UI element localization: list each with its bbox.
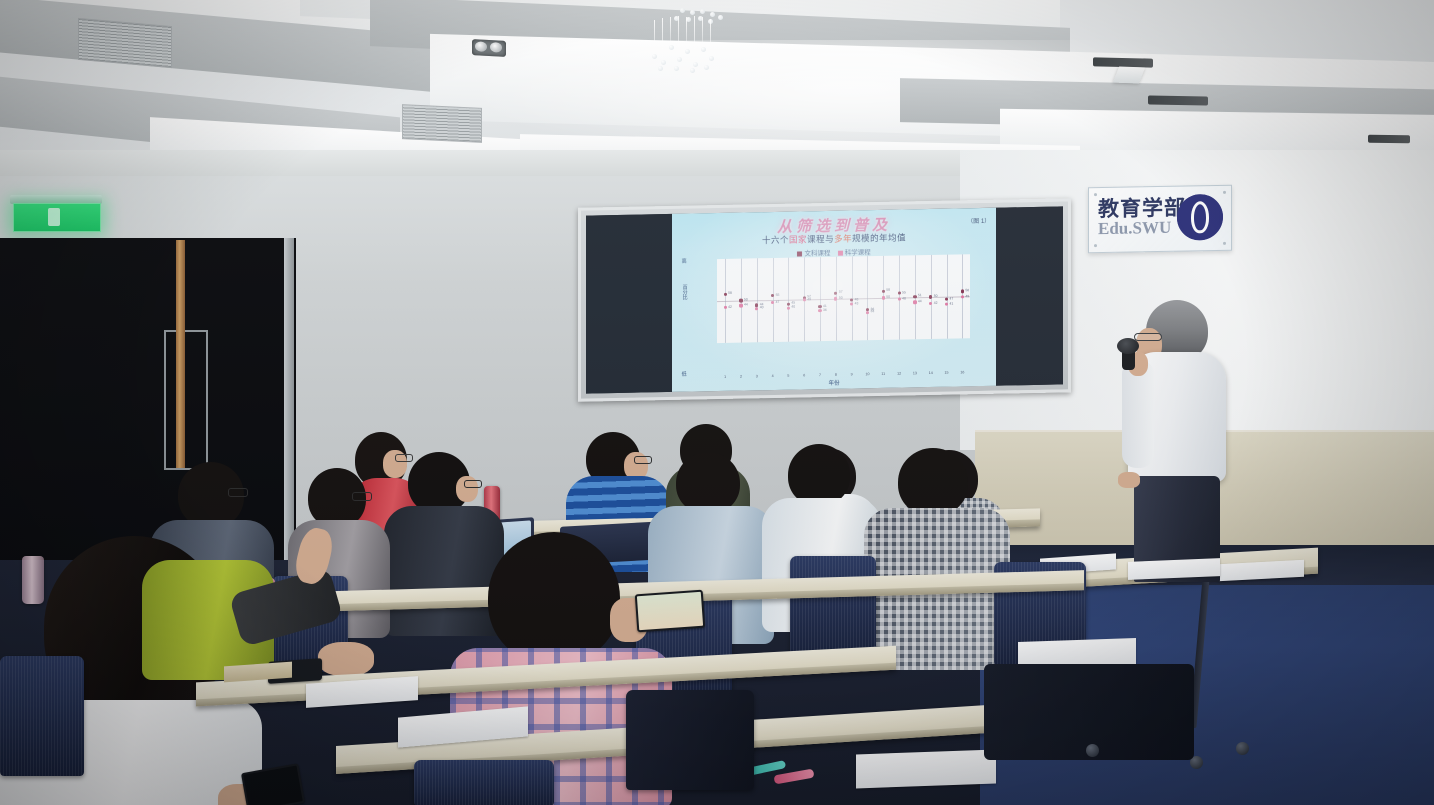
chart-plot-area: 5850445545524157483658555150475642444047…: [717, 254, 970, 343]
hvac-vent-icon: [78, 18, 172, 68]
chart-data-point: [739, 304, 742, 307]
chart-data-point: [945, 303, 948, 306]
paper-sheet: [856, 750, 996, 789]
chart-data-point: [850, 303, 853, 306]
board-panel-right: [996, 206, 1063, 385]
chart-data-point: [724, 293, 727, 296]
chart-x-tick: 1: [724, 375, 726, 379]
chart-x-tick: 16: [960, 370, 964, 374]
chart-point-label: 58: [886, 288, 890, 292]
chart-point-label: 58: [728, 291, 732, 295]
chart-data-point: [755, 307, 758, 310]
slide-sub-mid: 课程与: [807, 234, 834, 245]
legend-swatch-0: [797, 251, 802, 256]
chart-point-label: 50: [839, 296, 843, 300]
chart-point-label: 44: [918, 299, 922, 303]
chart-point-label: 42: [934, 301, 938, 305]
chart-point-label: 43: [855, 301, 859, 305]
chart-x-tick: 12: [897, 372, 901, 376]
door-jamb: [164, 330, 208, 470]
chart-point-label: 48: [902, 296, 906, 300]
slide-sub-lead: 十六个: [762, 235, 789, 246]
chart-data-point: [771, 301, 774, 304]
board-panel-left: [586, 214, 672, 394]
presenter-person: [1112, 300, 1232, 590]
running-man-icon: [48, 208, 60, 226]
chart-data-point: [898, 298, 901, 301]
axis-corner-bottom: 低: [682, 371, 687, 378]
chart-data-point: [945, 298, 948, 301]
chart-x-tick: 14: [929, 371, 933, 375]
chart-x-tick: 15: [945, 371, 949, 375]
department-wall-sign: 教育学部 Edu.SWU: [1088, 185, 1232, 254]
chart-point-label: 50: [934, 294, 938, 298]
chart-point-label: 57: [839, 290, 843, 294]
chart-data-point: [898, 292, 901, 295]
chart-point-label: 51: [918, 293, 922, 297]
chart-x-tick: 8: [835, 373, 837, 377]
chart-point-label: 50: [744, 297, 748, 301]
eyeglasses-icon: [228, 488, 248, 497]
hvac-vent-icon: [402, 104, 482, 143]
door-frame: [284, 238, 294, 560]
chart-point-label: 42: [728, 304, 732, 308]
projected-slide: 从筛选到普及 （图 1） 十六个国家课程与多年规模的年均值 文科课程 科学课程 …: [672, 208, 996, 392]
chart-point-label: 56: [965, 288, 969, 292]
eyeglasses-icon: [464, 480, 482, 488]
ceiling-slot-light-icon: [1148, 95, 1208, 105]
sign-english-text: Edu.SWU: [1098, 218, 1171, 239]
chart-gridline: [820, 257, 821, 341]
desk-caster: [1236, 742, 1249, 755]
chair[interactable]: [414, 760, 554, 805]
chart-point-label: 40: [760, 306, 764, 310]
ceiling-spotlight-icon: [472, 39, 506, 57]
chart-data-point: [834, 291, 837, 294]
chart-data-point: [866, 311, 869, 314]
chart-point-label: 55: [776, 293, 780, 297]
slide-sub-hl1: 国家: [789, 234, 807, 244]
emergency-exit-sign: [13, 203, 101, 232]
chart-point-label: 50: [886, 295, 890, 299]
chart-x-tick: 5: [787, 374, 789, 378]
chart-point-label: 55: [902, 290, 906, 294]
chart-x-tick: 6: [803, 373, 805, 377]
chart-data-point: [882, 296, 885, 299]
chair[interactable]: [0, 656, 84, 776]
paper-sheet: [1128, 558, 1220, 580]
desk-caster: [1086, 744, 1099, 757]
slide-sub-tail: 规模的年均值: [852, 232, 906, 243]
chart-gridline: [773, 258, 774, 342]
chart-point-label: 47: [950, 296, 954, 300]
chart-data-point: [818, 305, 821, 308]
chart-data-point: [961, 290, 964, 293]
chart-data-point: [787, 306, 790, 309]
doorway-dark[interactable]: [0, 238, 296, 560]
chart-x-axis-label: 年份: [672, 376, 996, 390]
chart-data-point: [929, 302, 932, 305]
chart-x-tick: 7: [819, 373, 821, 377]
chart-data-point: [850, 299, 853, 302]
chart-x-tick: 9: [851, 372, 853, 376]
chart-data-point: [724, 306, 727, 309]
eyeglasses-icon: [1134, 333, 1162, 341]
whiteboard-screen-assembly: 从筛选到普及 （图 1） 十六个国家课程与多年规模的年均值 文科课程 科学课程 …: [578, 198, 1071, 401]
chart-point-label: 41: [950, 301, 954, 305]
chart-data-point: [834, 297, 837, 300]
chart-gridline: [788, 258, 789, 342]
chart-data-point: [913, 301, 916, 304]
chart-data-point: [803, 299, 806, 302]
smartphone[interactable]: [635, 590, 705, 633]
chart-data-point: [913, 295, 916, 298]
slide-sub-hl2: 多年: [834, 233, 852, 243]
chart-data-point: [929, 295, 932, 298]
chart-point-label: 36: [823, 308, 827, 312]
eyeglasses-icon: [395, 454, 413, 462]
chart-data-point: [771, 294, 774, 297]
eyeglasses-icon: [352, 492, 372, 501]
chair-coat[interactable]: [626, 690, 754, 790]
lecture-hall-photo: 教育学部 Edu.SWU 从筛选到普及 （图 1） 十六个国家课程与多年规模的年…: [0, 0, 1434, 805]
chart-point-label: 33: [870, 309, 874, 313]
chart-data-point: [739, 299, 742, 302]
pink-clear-bottle: [22, 556, 44, 604]
chart-data-point: [787, 302, 790, 305]
legend-swatch-1: [838, 250, 843, 255]
chart-x-tick: 3: [756, 374, 758, 378]
door-edge-wood: [176, 240, 185, 468]
chair[interactable]: [790, 556, 876, 656]
microphone-head: [1117, 338, 1139, 354]
ceiling-slot-light-icon: [1368, 135, 1410, 144]
slide-figure-label: （图 1）: [967, 216, 990, 225]
chart-x-tick: 11: [881, 372, 885, 376]
chart-x-tick: 4: [772, 374, 774, 378]
chart-point-label: 49: [807, 297, 811, 301]
hand: [318, 642, 374, 676]
chart-gridline: [867, 256, 868, 340]
chart-x-tick: 2: [740, 375, 742, 379]
chart-x-tick: 10: [865, 372, 869, 376]
chart-gridline: [725, 259, 726, 343]
chart-data-point: [882, 290, 885, 293]
chart-data-point: [818, 309, 821, 312]
chart-point-label: 49: [965, 294, 969, 298]
chart-x-tick: 13: [913, 371, 917, 375]
dark-jacket: [384, 506, 504, 636]
eyeglasses-icon: [634, 456, 652, 464]
presenter-arm: [1122, 360, 1154, 468]
chart-gridline: [757, 258, 758, 342]
swu-seal-logo-icon: [1177, 194, 1223, 241]
chart-y-axis-label: 百分比: [682, 285, 689, 300]
chart-point-label: 47: [776, 299, 780, 303]
chart-point-label: 44: [744, 303, 748, 307]
presenter-hand-lower: [1118, 472, 1140, 488]
crystal-chandelier-icon: [628, 8, 738, 78]
axis-corner-top: 高: [682, 258, 687, 265]
chart-data-point: [961, 296, 964, 299]
chart-point-label: 40: [791, 305, 795, 309]
